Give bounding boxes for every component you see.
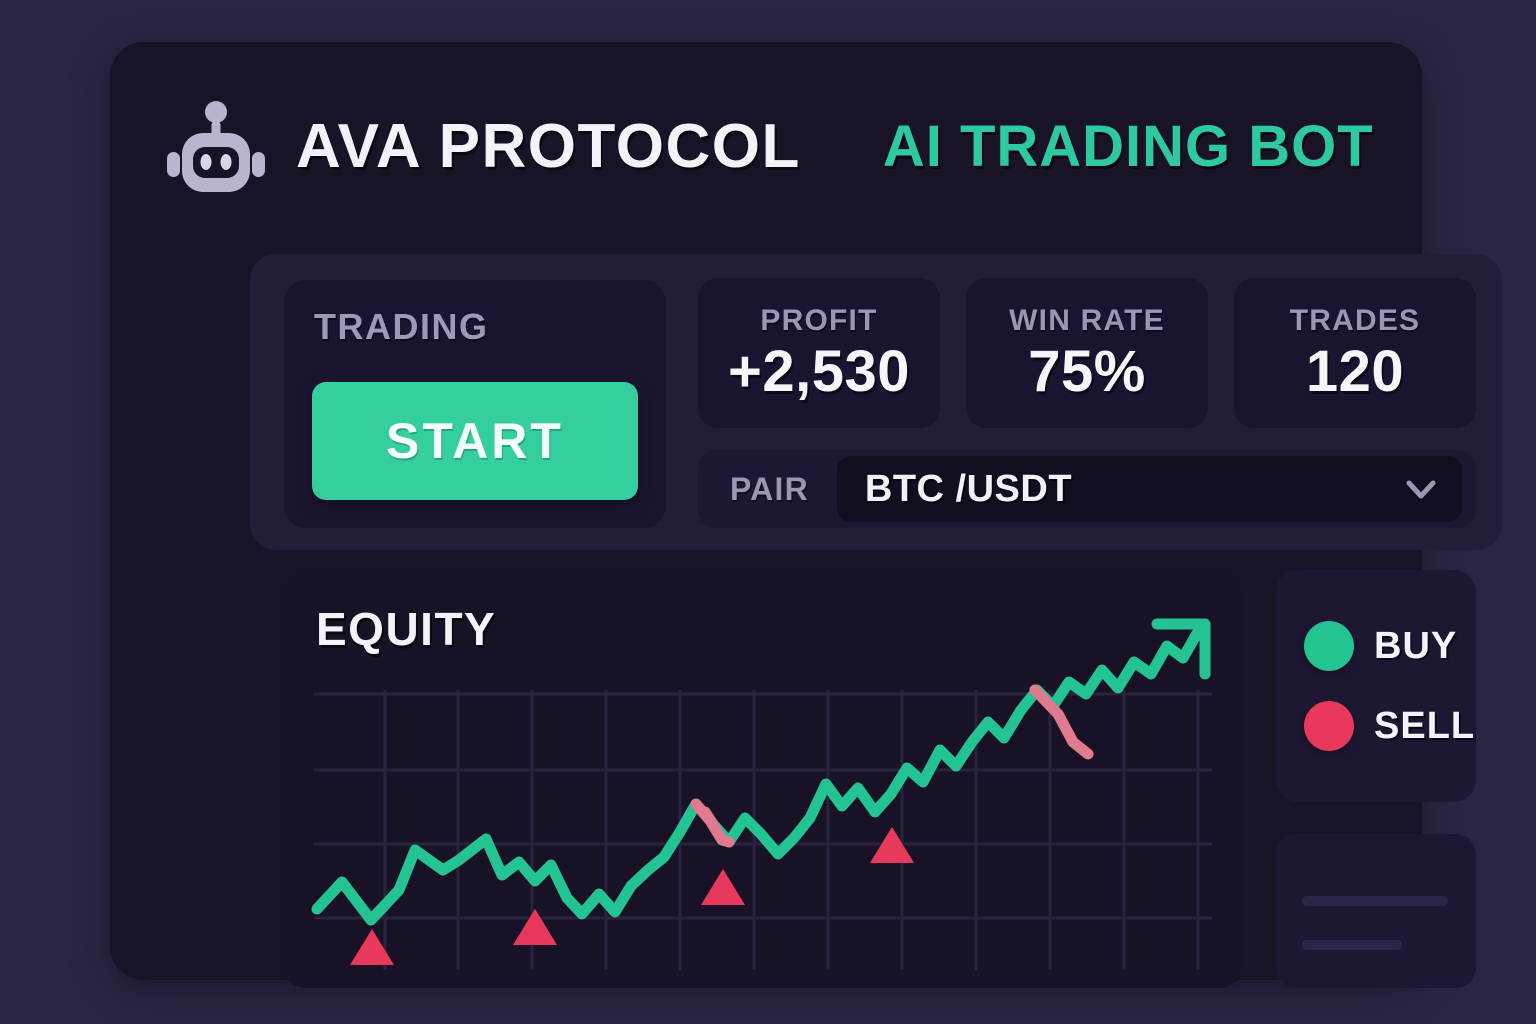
stat-card-trades: TRADES 120 [1234, 278, 1476, 428]
skeleton-line [1302, 940, 1402, 950]
stat-value: 75% [1028, 342, 1146, 403]
buy-dot-icon [1304, 621, 1354, 671]
stat-card-win-rate: WIN RATE 75% [966, 278, 1208, 428]
robot-icon [162, 92, 270, 200]
legend-label: BUY [1374, 625, 1457, 668]
stat-label: PROFIT [760, 304, 877, 338]
pair-label: PAIR [730, 471, 809, 508]
app-header: AVA PROTOCOL AI TRADING BOT [162, 90, 1370, 202]
chevron-down-icon [1406, 479, 1436, 499]
equity-chart-card: EQUITY [282, 570, 1244, 988]
placeholder-card [1276, 834, 1476, 988]
legend-item-buy: BUY [1304, 621, 1476, 671]
start-button[interactable]: START [312, 382, 638, 500]
trade-legend: BUY SELL [1276, 570, 1476, 802]
legend-item-sell: SELL [1304, 701, 1476, 751]
pair-row: PAIR BTC /USDT [698, 450, 1476, 528]
page-title: AVA PROTOCOL [296, 111, 801, 182]
stat-value: +2,530 [728, 342, 910, 403]
legend-label: SELL [1374, 705, 1475, 748]
sell-dot-icon [1304, 701, 1354, 751]
stat-label: TRADES [1290, 304, 1421, 338]
pair-select[interactable]: BTC /USDT [837, 456, 1462, 522]
skeleton-line [1302, 896, 1448, 906]
app-window: AVA PROTOCOL AI TRADING BOT TRADING STAR… [110, 42, 1422, 980]
stats-row: PROFIT +2,530 WIN RATE 75% TRADES 120 [698, 278, 1476, 428]
control-panel: TRADING START PROFIT +2,530 WIN RATE 75%… [250, 254, 1502, 550]
stat-value: 120 [1306, 342, 1404, 403]
trading-label: TRADING [314, 306, 489, 348]
trading-card: TRADING START [284, 280, 666, 528]
equity-title: EQUITY [316, 602, 496, 656]
stat-label: WIN RATE [1009, 304, 1165, 338]
pair-value: BTC /USDT [865, 468, 1072, 511]
stat-card-profit: PROFIT +2,530 [698, 278, 940, 428]
app-subtitle: AI TRADING BOT [883, 113, 1374, 180]
